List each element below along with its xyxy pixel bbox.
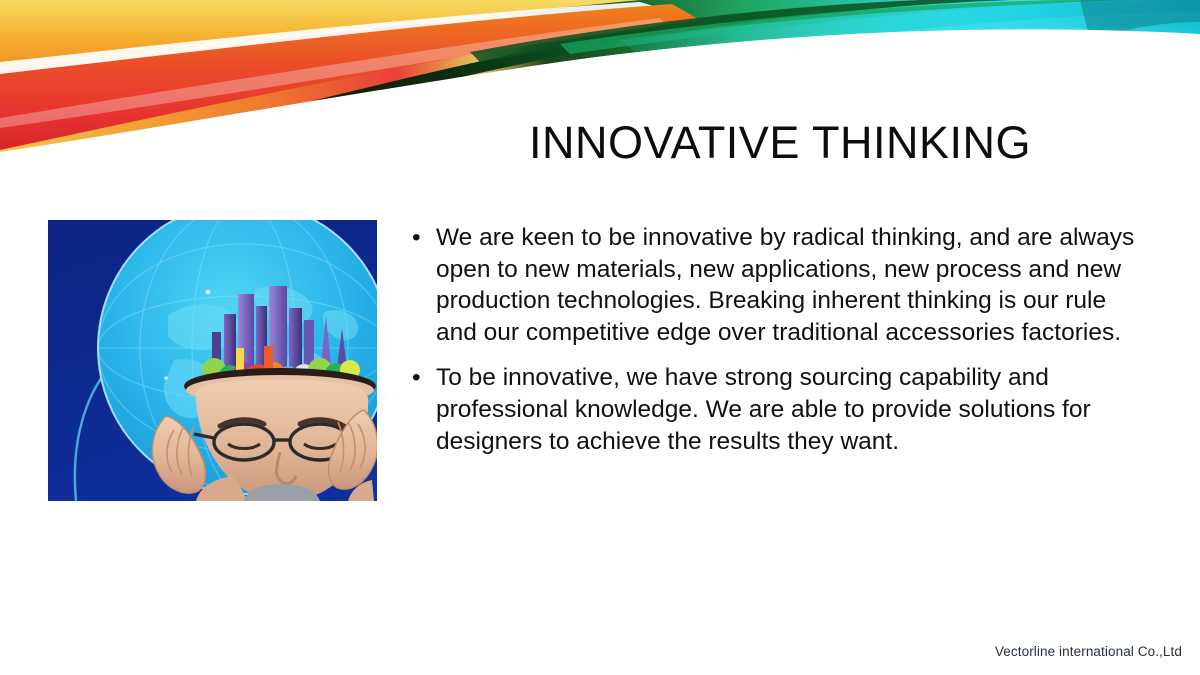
body-bullet-list: • We are keen to be innovative by radica…	[408, 222, 1148, 457]
list-item: • We are keen to be innovative by radica…	[408, 222, 1148, 348]
list-item: • To be innovative, we have strong sourc…	[408, 362, 1148, 457]
list-item-text: To be innovative, we have strong sourcin…	[436, 362, 1148, 457]
bullet-marker-icon: •	[412, 222, 421, 254]
slide-canvas: INNOVATIVE THINKING	[0, 0, 1200, 675]
slide-image-man-with-idea-city-brain	[48, 220, 377, 501]
bullet-marker-icon: •	[412, 362, 421, 394]
footer-company-name: Vectorline international Co.,Ltd	[995, 644, 1182, 659]
slide-title: INNOVATIVE THINKING	[400, 118, 1160, 168]
list-item-text: We are keen to be innovative by radical …	[436, 222, 1148, 348]
